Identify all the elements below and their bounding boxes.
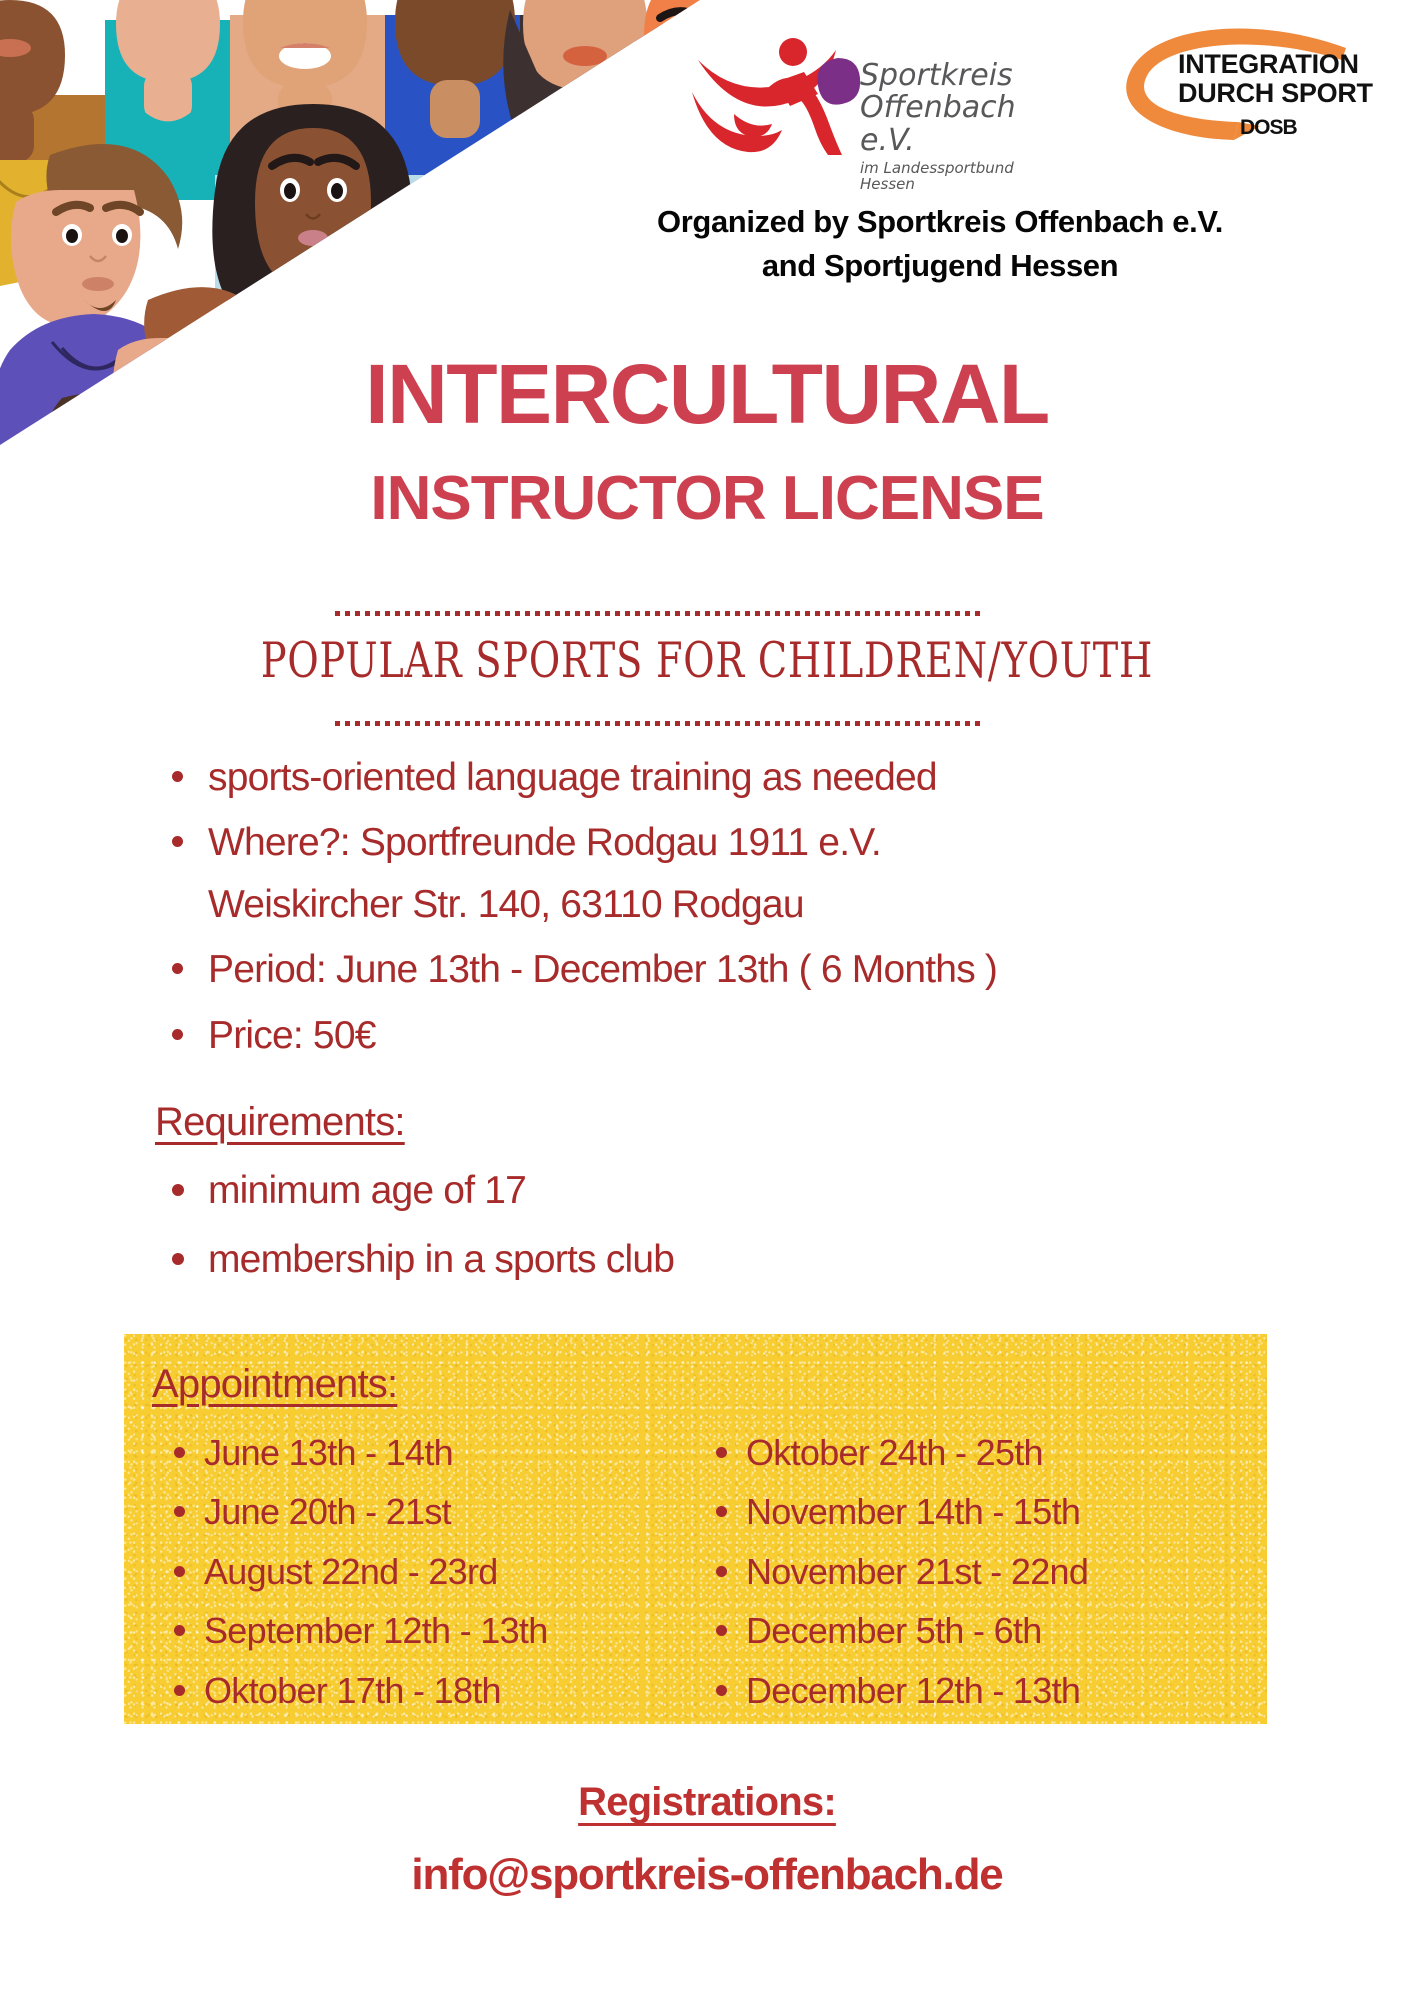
sportkreis-logo-line3: im Landessportbund Hessen xyxy=(860,160,1060,192)
info-list: sports-oriented language training as nee… xyxy=(160,752,1280,1075)
requirement-text: membership in a sports club xyxy=(208,1238,674,1281)
info-item-text: sports-oriented language training as nee… xyxy=(208,756,937,799)
appointments-column-right: Oktober 24th - 25th November 14th - 15th… xyxy=(704,1430,1244,1727)
requirements-list: minimum age of 17 membership in a sports… xyxy=(160,1165,1060,1304)
appointment-text: Oktober 24th - 25th xyxy=(746,1432,1043,1473)
list-item: June 13th - 14th xyxy=(162,1430,682,1476)
appointment-text: June 20th - 21st xyxy=(204,1491,451,1532)
organizer-text: Organized by Sportkreis Offenbach e.V. a… xyxy=(500,200,1380,288)
appointment-text: August 22nd - 23rd xyxy=(204,1551,498,1592)
integration-durch-sport-text: INTEGRATION DURCH SPORT xyxy=(1178,50,1373,108)
page-title-sub: INSTRUCTOR LICENSE xyxy=(0,468,1414,530)
appointment-text: Oktober 17th - 18th xyxy=(204,1670,501,1711)
list-item: December 12th - 13th xyxy=(704,1668,1244,1714)
appointments-box: Appointments: June 13th - 14th June 20th… xyxy=(124,1334,1267,1724)
list-item: minimum age of 17 xyxy=(160,1165,1060,1216)
dosb-text: DOSB xyxy=(1240,116,1297,139)
list-item: Oktober 24th - 25th xyxy=(704,1430,1244,1476)
logo-row: Sportkreis Offenbach e.V. im Landessport… xyxy=(690,22,1390,162)
list-item: August 22nd - 23rd xyxy=(162,1549,682,1595)
requirements-heading: Requirements: xyxy=(155,1100,405,1145)
list-item: membership in a sports club xyxy=(160,1234,1060,1285)
appointment-text: June 13th - 14th xyxy=(204,1432,453,1473)
registrations-heading: Registrations: xyxy=(0,1780,1414,1825)
running-figure-mark xyxy=(690,30,865,155)
appointment-text: December 5th - 6th xyxy=(746,1610,1042,1651)
appointment-text: November 14th - 15th xyxy=(746,1491,1080,1532)
info-item-text-line2: Weiskircher Str. 140, 63110 Rodgau xyxy=(208,879,1280,930)
sportkreis-logo-text: Sportkreis Offenbach e.V. im Landessport… xyxy=(860,60,1060,193)
list-item: Price: 50€ xyxy=(160,1010,1280,1061)
sportkreis-logo-line1: Sportkreis xyxy=(860,60,1060,92)
list-item: September 12th - 13th xyxy=(162,1608,682,1654)
list-item: Where?: Sportfreunde Rodgau 1911 e.V. We… xyxy=(160,817,1280,930)
list-item: Oktober 17th - 18th xyxy=(162,1668,682,1714)
appointments-heading: Appointments: xyxy=(152,1362,397,1407)
appointment-text: September 12th - 13th xyxy=(204,1610,548,1651)
organizer-line1: Organized by Sportkreis Offenbach e.V. xyxy=(500,200,1380,244)
dotted-divider-top xyxy=(335,611,985,616)
poster-canvas: Sportkreis Offenbach e.V. im Landessport… xyxy=(0,0,1414,2000)
sportkreis-logo-line2: Offenbach e.V. xyxy=(860,92,1060,157)
dosb-sublogo: DOSB xyxy=(1240,116,1297,140)
info-item-text: Where?: Sportfreunde Rodgau 1911 e.V. xyxy=(208,821,881,864)
dotted-divider-bottom xyxy=(335,721,985,726)
ids-line2: DURCH SPORT xyxy=(1178,79,1373,108)
list-item: November 14th - 15th xyxy=(704,1489,1244,1535)
list-item: December 5th - 6th xyxy=(704,1608,1244,1654)
tagline: POPULAR SPORTS FOR CHILDREN/YOUTH xyxy=(156,636,1259,685)
page-title-main: INTERCULTURAL xyxy=(0,352,1414,436)
info-item-text: Price: 50€ xyxy=(208,1014,376,1057)
list-item: sports-oriented language training as nee… xyxy=(160,752,1280,803)
appointment-text: November 21st - 22nd xyxy=(746,1551,1088,1592)
appointment-text: December 12th - 13th xyxy=(746,1670,1080,1711)
info-item-text: Period: June 13th - December 13th ( 6 Mo… xyxy=(208,948,997,991)
integration-durch-sport-logo: INTEGRATION DURCH SPORT DOSB xyxy=(1110,22,1370,150)
list-item: Period: June 13th - December 13th ( 6 Mo… xyxy=(160,944,1280,995)
registrations-email[interactable]: info@sportkreis-offenbach.de xyxy=(0,1850,1414,1900)
sportkreis-offenbach-logo: Sportkreis Offenbach e.V. im Landessport… xyxy=(690,30,1060,160)
appointments-column-left: June 13th - 14th June 20th - 21st August… xyxy=(162,1430,682,1727)
requirement-text: minimum age of 17 xyxy=(208,1169,526,1212)
organizer-line2: and Sportjugend Hessen xyxy=(500,244,1380,288)
list-item: November 21st - 22nd xyxy=(704,1549,1244,1595)
list-item: June 20th - 21st xyxy=(162,1489,682,1535)
ids-line1: INTEGRATION xyxy=(1178,50,1373,79)
